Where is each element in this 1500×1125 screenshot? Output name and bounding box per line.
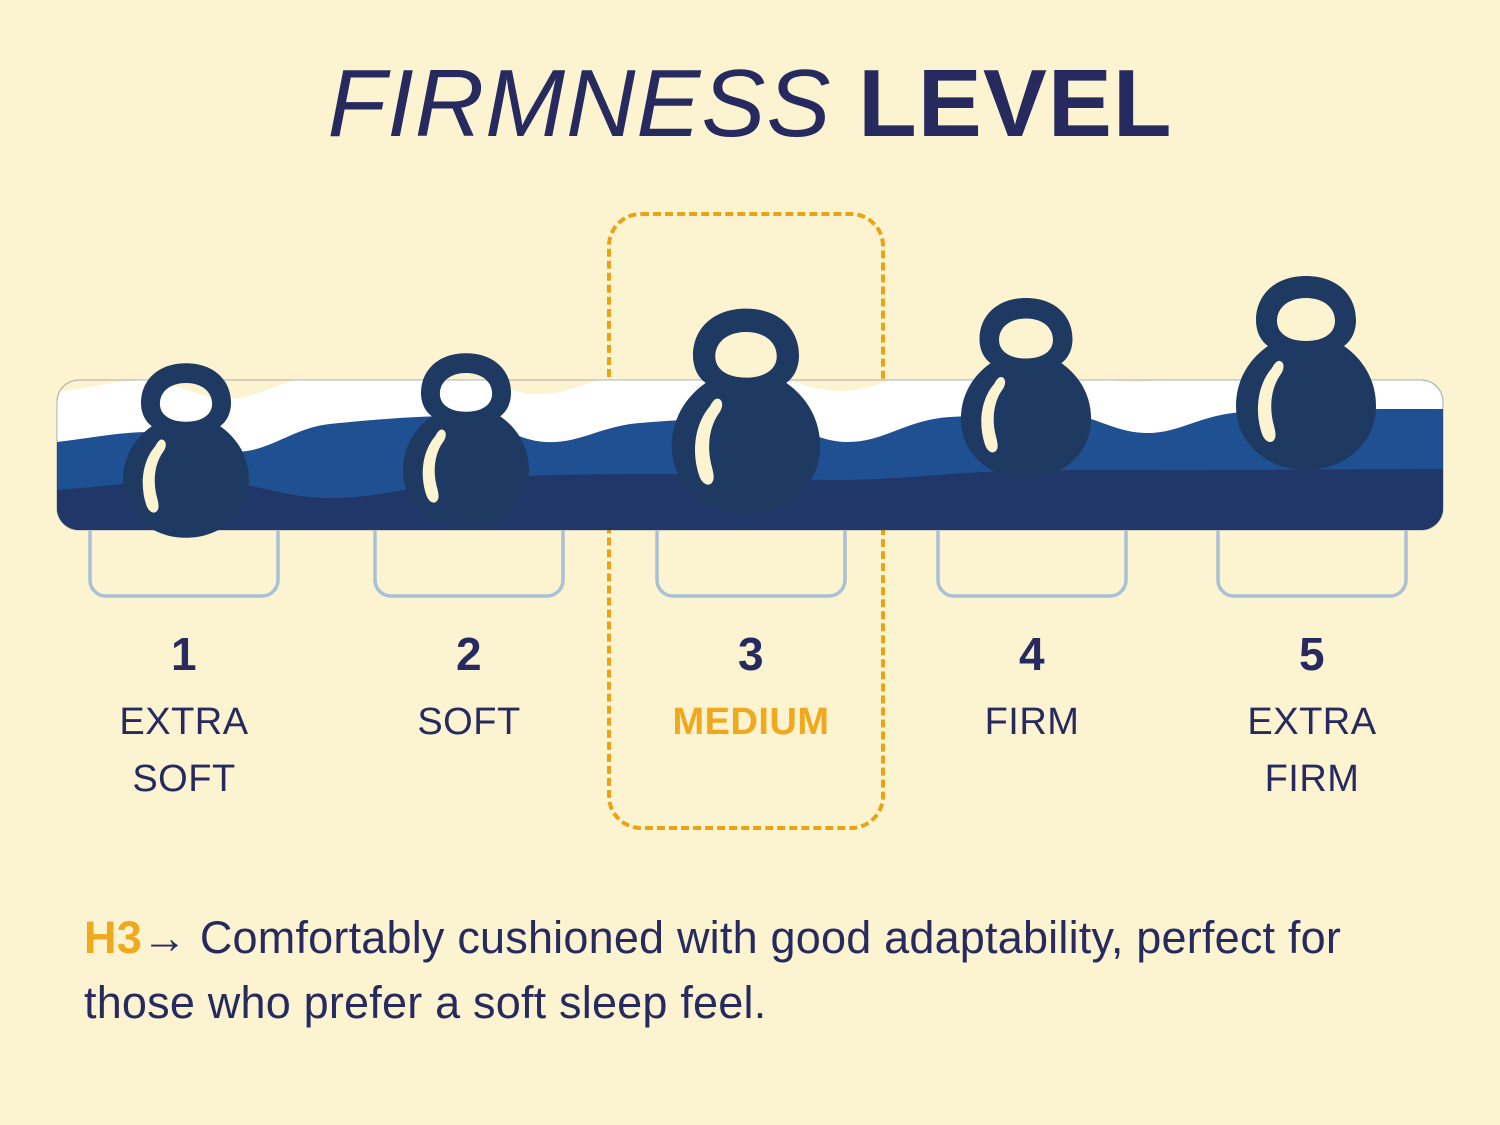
description-tag: H3	[84, 912, 142, 963]
page-title-light: FIRMNESS	[327, 50, 831, 157]
scale-brackets	[0, 528, 1500, 618]
scale-item-4[interactable]: 4 FIRM	[912, 630, 1152, 751]
scale-label-1-line1: EXTRA	[64, 694, 304, 751]
scale-label-5-line1: EXTRA	[1192, 694, 1432, 751]
bracket-1	[90, 532, 278, 596]
firmness-level-infographic: FIRMNESS LEVEL	[0, 0, 1500, 1125]
description-body: Comfortably cushioned with good adaptabi…	[84, 912, 1341, 1028]
scale-label-1-line2: SOFT	[64, 751, 304, 808]
scale-label-1: EXTRA SOFT	[64, 694, 304, 808]
page-title: FIRMNESS LEVEL	[0, 56, 1500, 152]
firmness-scale-labels: 1 EXTRA SOFT 2 SOFT 3 MEDIUM 4 FIRM	[0, 630, 1500, 840]
scale-item-2[interactable]: 2 SOFT	[349, 630, 589, 751]
page-title-bold: LEVEL	[858, 50, 1172, 157]
scale-label-2-line1: SOFT	[349, 694, 589, 751]
bracket-3	[657, 532, 845, 596]
scale-number-2: 2	[349, 630, 589, 678]
scale-number-4: 4	[912, 630, 1152, 678]
bracket-2	[375, 532, 563, 596]
description-arrow: →	[142, 912, 187, 963]
bracket-4	[938, 532, 1126, 596]
scale-item-3[interactable]: 3 MEDIUM	[631, 630, 871, 751]
scale-item-5[interactable]: 5 EXTRA FIRM	[1192, 630, 1432, 808]
scale-label-5-line2: FIRM	[1192, 751, 1432, 808]
kettlebell-icon-3	[672, 309, 820, 515]
scale-item-1[interactable]: 1 EXTRA SOFT	[64, 630, 304, 808]
kettlebell-icon-5	[1236, 276, 1376, 470]
scale-number-3: 3	[631, 630, 871, 678]
scale-number-5: 5	[1192, 630, 1432, 678]
scale-label-2: SOFT	[349, 694, 589, 751]
scale-label-5: EXTRA FIRM	[1192, 694, 1432, 808]
scale-label-3-line1: MEDIUM	[631, 694, 871, 751]
scale-label-4: FIRM	[912, 694, 1152, 751]
bracket-5	[1218, 532, 1406, 596]
kettlebell-icon-4	[961, 298, 1091, 478]
scale-label-4-line1: FIRM	[912, 694, 1152, 751]
scale-label-3: MEDIUM	[631, 694, 871, 751]
scale-number-1: 1	[64, 630, 304, 678]
description-text: H3→ Comfortably cushioned with good adap…	[84, 905, 1414, 1036]
